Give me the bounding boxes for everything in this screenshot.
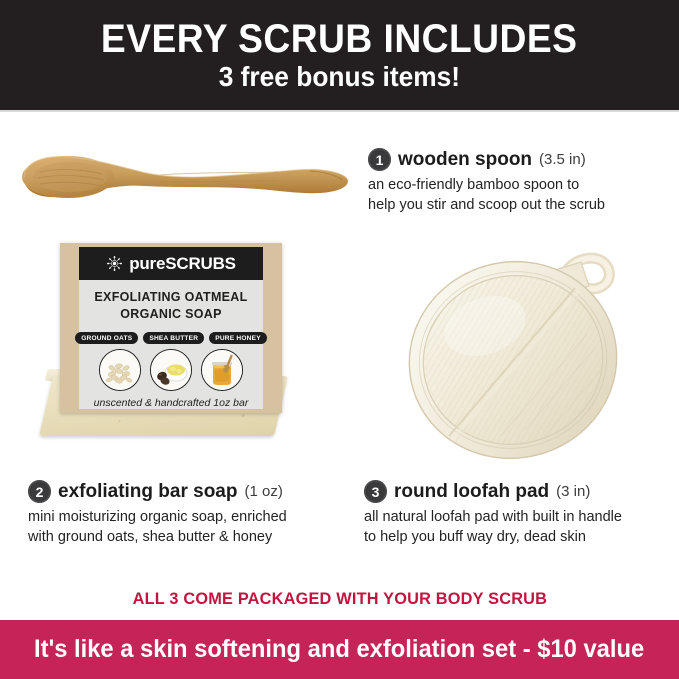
item-3-heading: 3 round loofah pad (3 in) [364, 480, 674, 503]
brand-name: pureSCRUBS [129, 254, 236, 274]
honey-jar-illustration [202, 350, 242, 390]
oats-photo [99, 349, 141, 391]
item-1-quantity: (3.5 in) [539, 152, 586, 167]
loofah-pad-image [405, 240, 640, 470]
item-1-title: wooden spoon [398, 150, 532, 169]
item-2-text-block: 2 exfoliating bar soap (1 oz) mini moist… [28, 480, 338, 547]
ingredient-pill-oats: GROUND OATS [75, 332, 138, 344]
item-2-title: exfoliating bar soap [58, 482, 237, 501]
item-3-desc-line-2: to help you buff way dry, dead skin [364, 527, 674, 547]
ingredient-photo-row [99, 349, 243, 391]
item-3-description: all natural loofah pad with built in han… [364, 507, 674, 547]
page-title: EVERY SCRUB INCLUDES [101, 19, 577, 59]
mandala-logo-icon [106, 255, 123, 272]
spoon-illustration [10, 148, 355, 208]
value-banner-text: It's like a skin softening and exfoliati… [34, 635, 644, 664]
header-banner: EVERY SCRUB INCLUDES 3 free bonus items! [0, 0, 679, 110]
footer-tagline: ALL 3 COME PACKAGED WITH YOUR BODY SCRUB [0, 586, 679, 612]
item-2-description: mini moisturizing organic soap, enriched… [28, 507, 338, 547]
page-subtitle: 3 free bonus items! [219, 63, 460, 91]
item-1-description: an eco-friendly bamboo spoon to help you… [368, 175, 668, 215]
soap-heading-line-2: ORGANIC SOAP [94, 306, 247, 323]
item-2-quantity: (1 oz) [244, 484, 282, 499]
soap-label: pureSCRUBS EXFOLIATING OATMEAL ORGANIC S… [60, 243, 282, 413]
shea-butter-photo [150, 349, 192, 391]
oats-illustration [100, 350, 140, 390]
item-1-text-block: 1 wooden spoon (3.5 in) an eco-friendly … [368, 148, 668, 215]
header-divider [0, 110, 679, 112]
item-2-heading: 2 exfoliating bar soap (1 oz) [28, 480, 338, 503]
soap-heading-line-1: EXFOLIATING OATMEAL [94, 289, 247, 306]
soap-label-inner-panel: pureSCRUBS EXFOLIATING OATMEAL ORGANIC S… [79, 247, 263, 409]
soap-label-heading: EXFOLIATING OATMEAL ORGANIC SOAP [94, 289, 247, 323]
ingredient-pill-row: GROUND OATS SHEA BUTTER PURE HONEY [75, 332, 267, 344]
item-3-title: round loofah pad [394, 482, 549, 501]
item-2-desc-line-2: with ground oats, shea butter & honey [28, 527, 338, 547]
wooden-spoon-image [10, 148, 355, 208]
soap-brand-band: pureSCRUBS [79, 247, 263, 280]
item-1-number-badge: 1 [368, 148, 391, 171]
item-3-quantity: (3 in) [556, 484, 590, 499]
item-3-desc-line-1: all natural loofah pad with built in han… [364, 507, 674, 527]
value-banner: It's like a skin softening and exfoliati… [0, 620, 679, 679]
ingredient-pill-honey: PURE HONEY [209, 332, 267, 344]
shea-butter-illustration [151, 350, 191, 390]
ingredient-pill-shea: SHEA BUTTER [143, 332, 204, 344]
item-2-desc-line-1: mini moisturizing organic soap, enriched [28, 507, 338, 527]
item-3-text-block: 3 round loofah pad (3 in) all natural lo… [364, 480, 674, 547]
soap-label-footer-note: unscented & handcrafted 1oz bar [94, 397, 249, 409]
item-1-heading: 1 wooden spoon (3.5 in) [368, 148, 668, 171]
infographic-page: EVERY SCRUB INCLUDES 3 free bonus items! [0, 0, 679, 679]
footer-tagline-text: ALL 3 COME PACKAGED WITH YOUR BODY SCRUB [132, 589, 547, 609]
bar-soap-image: pureSCRUBS EXFOLIATING OATMEAL ORGANIC S… [42, 243, 307, 458]
honey-jar-photo [201, 349, 243, 391]
item-2-number-badge: 2 [28, 480, 51, 503]
loofah-illustration [405, 240, 640, 470]
item-3-number-badge: 3 [364, 480, 387, 503]
item-1-desc-line-2: help you stir and scoop out the scrub [368, 195, 668, 215]
item-1-desc-line-1: an eco-friendly bamboo spoon to [368, 175, 668, 195]
